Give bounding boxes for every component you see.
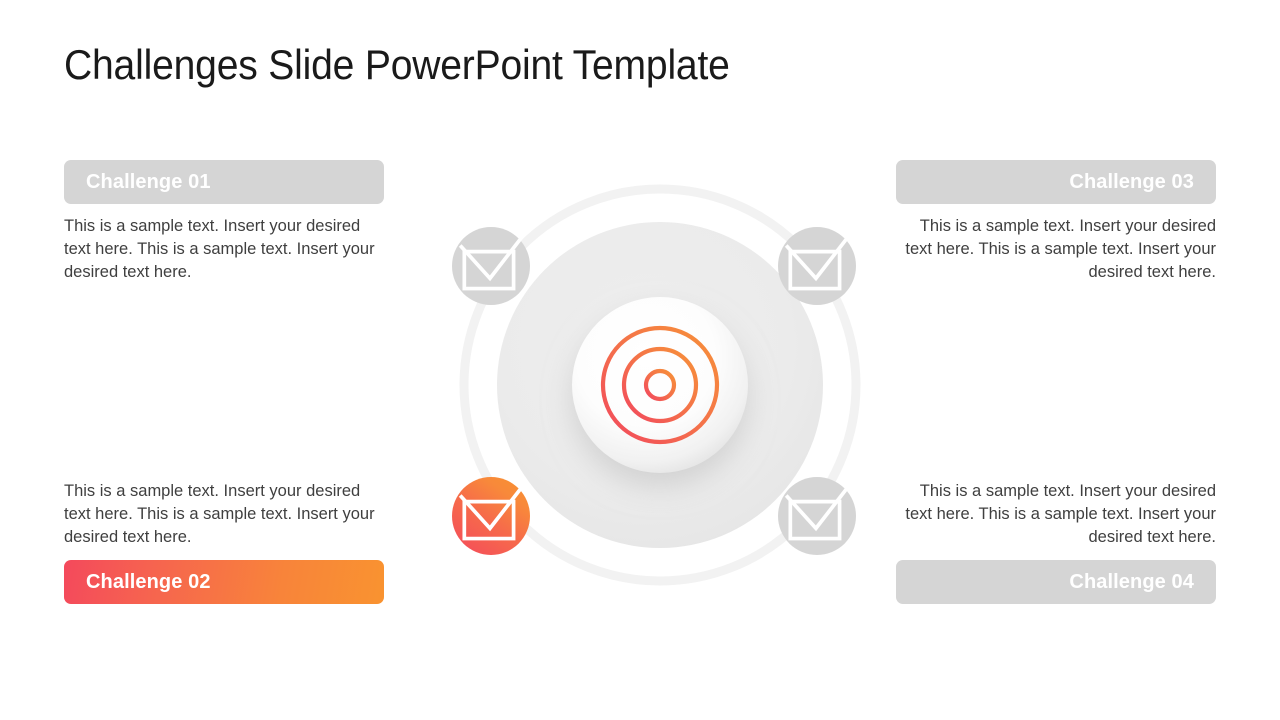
challenge-04-label-bar[interactable]: Challenge 04 [896, 560, 1216, 604]
center-diagram [430, 155, 890, 615]
challenge-01-text: This is a sample text. Insert your desir… [64, 215, 384, 284]
challenge-04-label: Challenge 04 [1069, 571, 1194, 594]
page-title: Challenges Slide PowerPoint Template [64, 41, 730, 89]
challenge-04-text: This is a sample text. Insert your desir… [896, 480, 1216, 549]
node-challenge-04[interactable] [778, 477, 856, 555]
challenge-02-text: This is a sample text. Insert your desir… [64, 480, 384, 549]
challenge-block-03: Challenge 03 This is a sample text. Inse… [896, 160, 1216, 284]
challenge-block-04: This is a sample text. Insert your desir… [896, 480, 1216, 604]
challenge-03-label-bar[interactable]: Challenge 03 [896, 160, 1216, 204]
challenge-01-label-bar[interactable]: Challenge 01 [64, 160, 384, 204]
envelope-icon [452, 286, 530, 720]
challenge-03-label: Challenge 03 [1069, 171, 1194, 194]
challenge-02-label: Challenge 02 [86, 571, 211, 594]
challenge-02-label-bar[interactable]: Challenge 02 [64, 560, 384, 604]
challenge-01-label: Challenge 01 [86, 171, 211, 194]
challenge-block-02: This is a sample text. Insert your desir… [64, 480, 384, 604]
challenge-03-text: This is a sample text. Insert your desir… [896, 215, 1216, 284]
challenge-block-01: Challenge 01 This is a sample text. Inse… [64, 160, 384, 284]
node-challenge-02[interactable] [452, 477, 530, 555]
envelope-icon [778, 286, 856, 720]
slide-canvas: Challenges Slide PowerPoint Template [0, 0, 1280, 720]
